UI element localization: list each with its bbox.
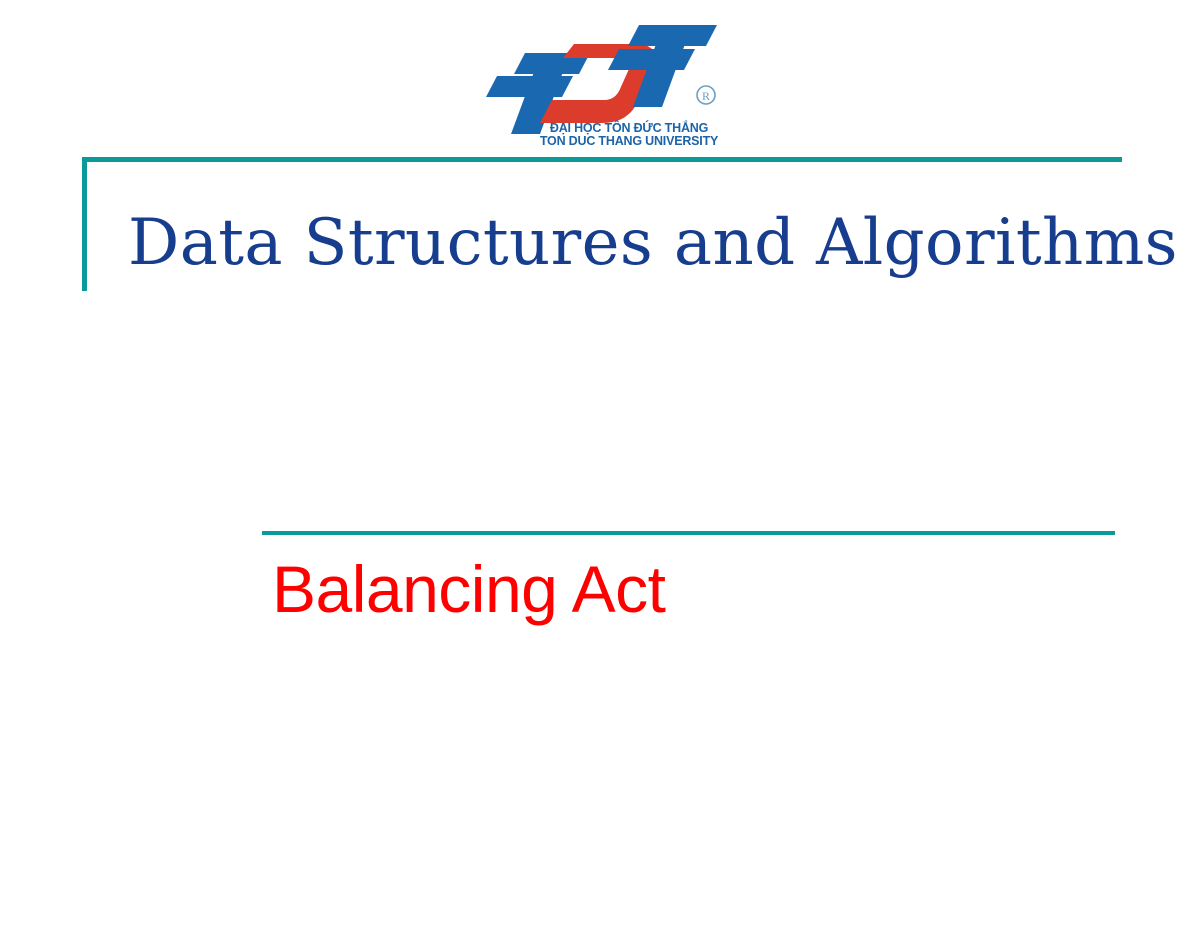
logo-caption-english: TON DUC THANG UNIVERSITY xyxy=(534,135,724,148)
svg-text:R: R xyxy=(702,89,710,103)
page-title: Data Structures and Algorithms xyxy=(128,206,1128,280)
slide-subtitle: Balancing Act xyxy=(272,551,1132,627)
subtitle-horizontal-rule xyxy=(262,531,1115,535)
header-vertical-rule xyxy=(82,157,87,291)
registered-trademark-icon: R xyxy=(697,86,715,104)
logo-caption-vietnamese: ĐẠI HỌC TÔN ĐỨC THẮNG xyxy=(534,122,724,135)
tdt-university-logo: R ĐẠI HỌC TÔN ĐỨC THẮNG TON DUC THANG UN… xyxy=(478,22,728,160)
logo-caption: ĐẠI HỌC TÔN ĐỨC THẮNG TON DUC THANG UNIV… xyxy=(534,122,724,148)
slide-canvas: R ĐẠI HỌC TÔN ĐỨC THẮNG TON DUC THANG UN… xyxy=(0,0,1200,927)
header-horizontal-rule xyxy=(82,157,1122,162)
tdt-logo-mark: R xyxy=(478,22,728,134)
